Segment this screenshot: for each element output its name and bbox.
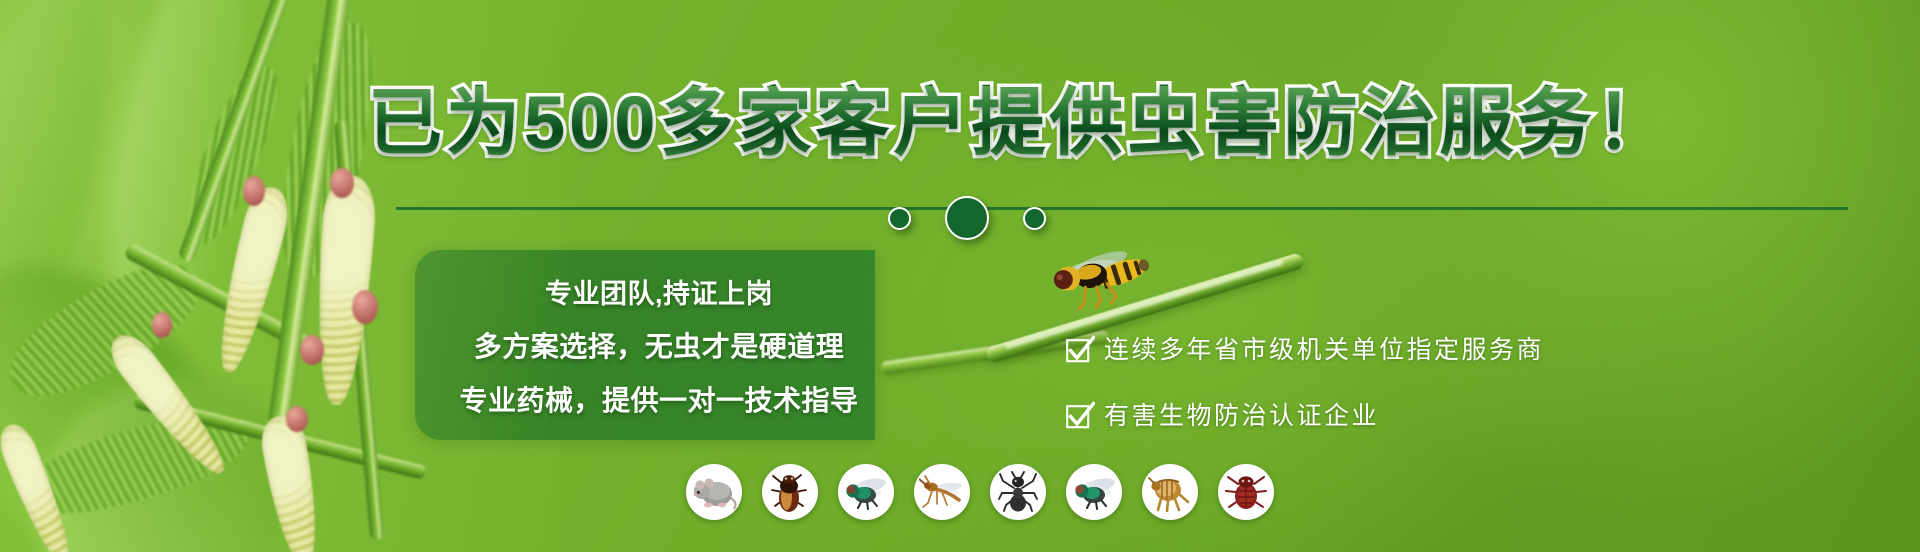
cockroach-icon[interactable] (762, 464, 818, 520)
dot-small-right (1023, 207, 1046, 230)
blowfly-icon[interactable] (1066, 464, 1122, 520)
catkin-tip (300, 335, 324, 365)
fly-icon[interactable] (838, 464, 894, 520)
checklist-item-label: 连续多年省市级机关单位指定服务商 (1104, 330, 1544, 366)
dot-small-left (888, 207, 911, 230)
catkin-tip (243, 176, 265, 206)
mosquito-icon[interactable] (914, 464, 970, 520)
credentials-checklist: 连续多年省市级机关单位指定服务商 有害生物防治认证企业 (1065, 330, 1544, 432)
catkin-tip (152, 312, 172, 338)
ant-icon[interactable] (990, 464, 1046, 520)
selling-points-text: 专业团队,持证上岗 多方案选择，无虫才是硬道理 专业药械，提供一对一技术指导 (415, 250, 895, 440)
pest-type-icons (686, 464, 1274, 520)
catkin-tip (286, 406, 308, 432)
selling-point-1: 专业团队,持证上岗 (545, 272, 773, 311)
catkin-tip (330, 168, 354, 198)
dot-large-center (945, 196, 989, 240)
pest-control-banner: 已为500多家客户提供虫害防治服务！ 已为500多家客户提供虫害防治服务！ 专业… (0, 0, 1920, 552)
checklist-item: 连续多年省市级机关单位指定服务商 (1065, 330, 1544, 366)
checklist-item: 有害生物防治认证企业 (1065, 396, 1544, 432)
mouse-icon[interactable] (686, 464, 742, 520)
flea-icon[interactable] (1142, 464, 1198, 520)
selling-point-2: 多方案选择，无虫才是硬道理 (474, 325, 845, 365)
decorative-dots (888, 196, 1046, 240)
checkbox-checked-icon (1065, 335, 1091, 361)
catkin-tip (352, 290, 378, 324)
headline-fill: 已为500多家客户提供虫害防治服务！ (368, 86, 1673, 160)
bedbug-icon[interactable] (1218, 464, 1274, 520)
checklist-item-label: 有害生物防治认证企业 (1104, 396, 1379, 432)
selling-point-3: 专业药械，提供一对一技术指导 (459, 379, 858, 419)
checkbox-checked-icon (1065, 401, 1091, 427)
divider (396, 207, 1848, 210)
